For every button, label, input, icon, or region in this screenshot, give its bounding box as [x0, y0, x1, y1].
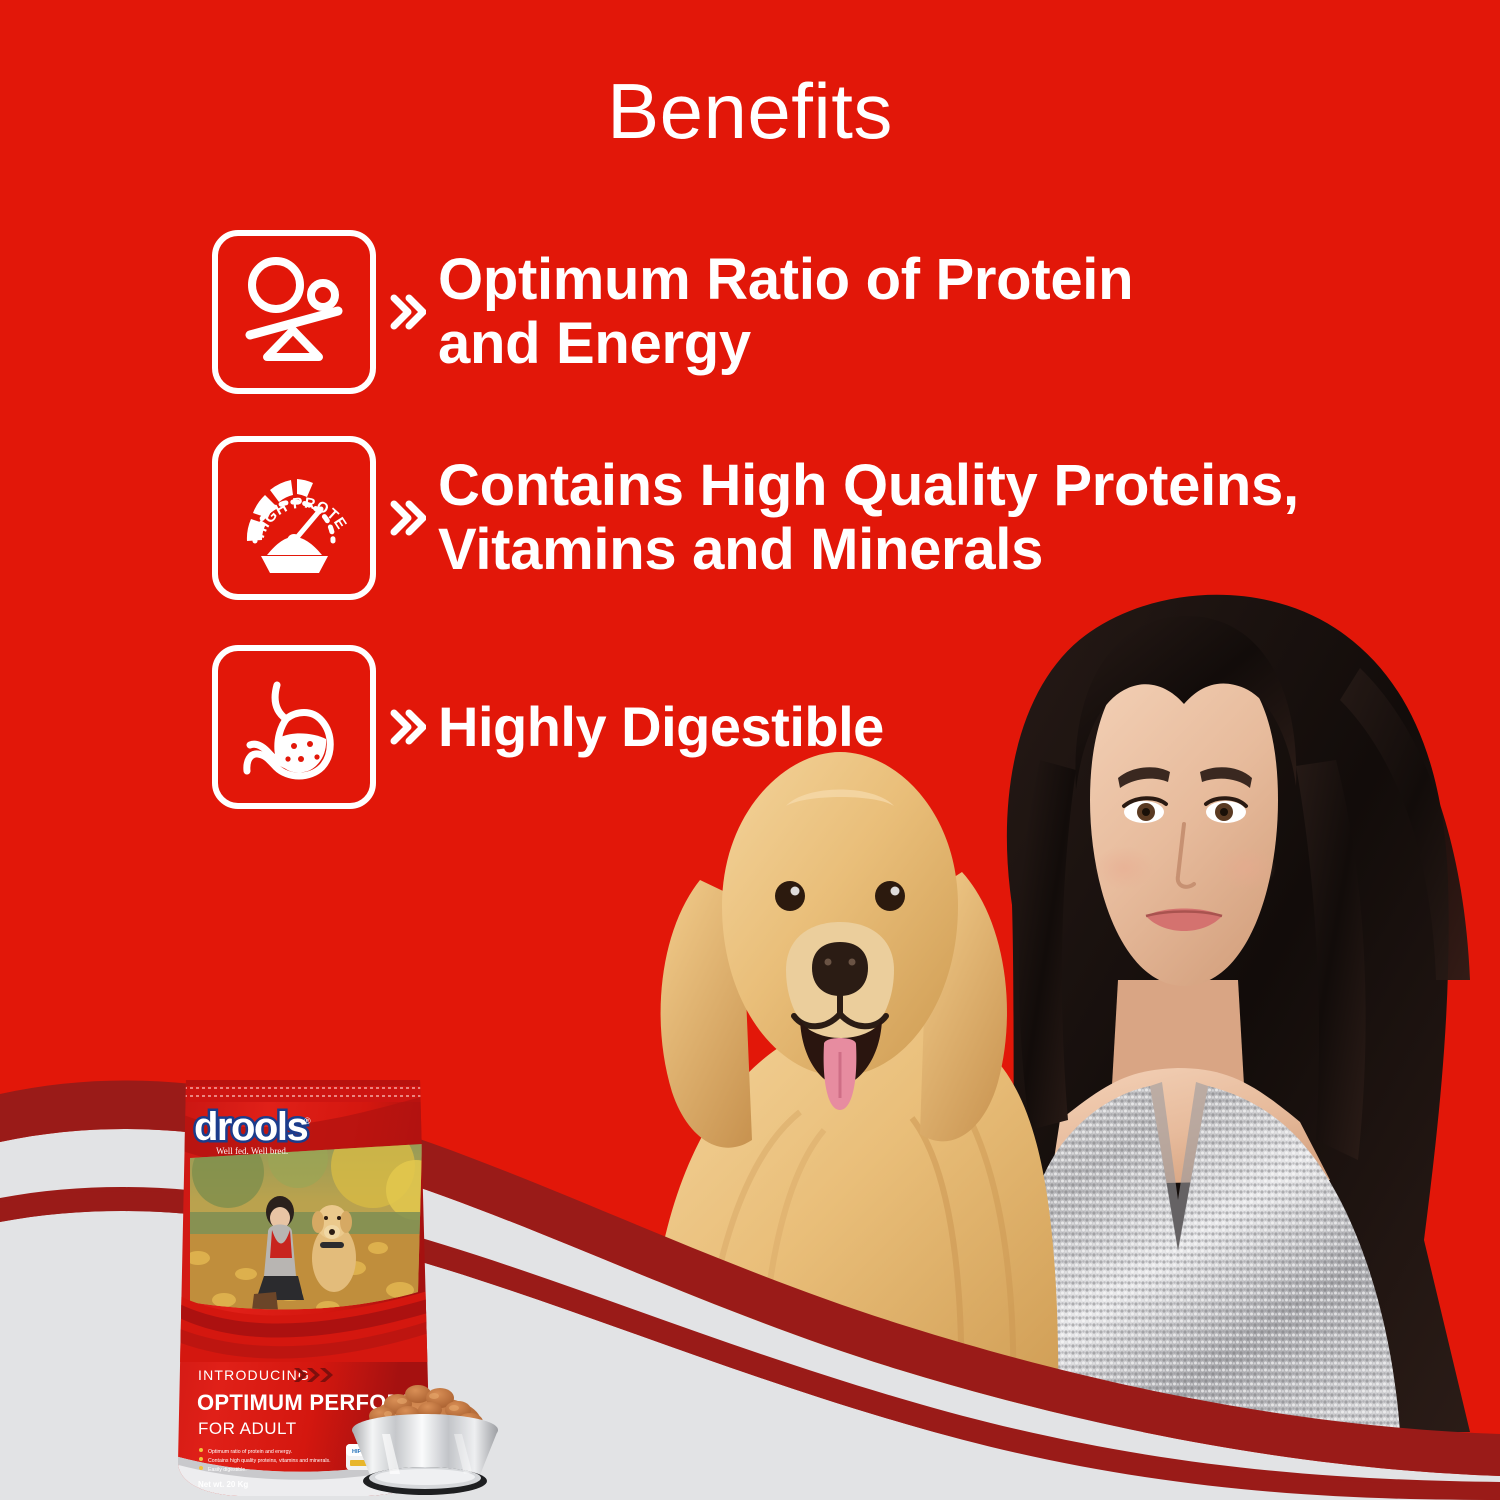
- bag-bullet-2: Easily digestible.: [208, 1467, 247, 1473]
- benefit-row-3: Highly Digestible: [212, 645, 884, 809]
- bag-net-weight: Net wt. 20 Kg: [198, 1480, 248, 1489]
- benefit-text-2: Contains High Quality Proteins, Vitamins…: [438, 454, 1299, 582]
- bag-brand-text: drools: [194, 1105, 307, 1149]
- high-protein-gauge-icon: HIGH PROTEIN: [212, 436, 376, 600]
- balance-scale-icon: [212, 230, 376, 394]
- bag-tagline: Well fed. Well bred.: [216, 1146, 288, 1156]
- benefit-row-2: HIGH PROTEIN Contains High Quality Prote…: [212, 436, 1299, 600]
- stomach-digestion-icon: [212, 645, 376, 809]
- double-chevron-right-icon: [376, 498, 438, 538]
- benefits-promo-banner: Benefits: [0, 0, 1500, 1500]
- bag-brand-trademark: ®: [304, 1116, 311, 1126]
- benefit-row-1: Optimum Ratio of Protein and Energy: [212, 230, 1133, 394]
- page-title: Benefits: [0, 72, 1500, 150]
- bag-introducing-label: INTRODUCING: [198, 1367, 310, 1383]
- bag-life-stage: FOR ADULT: [198, 1419, 297, 1438]
- double-chevron-right-icon: [376, 707, 438, 747]
- bag-bullet-0: Optimum ratio of protein and energy.: [208, 1449, 292, 1455]
- benefit-text-3: Highly Digestible: [438, 696, 884, 758]
- stainless-steel-dog-bowl: [330, 1368, 520, 1500]
- bag-bullet-1: Contains high quality proteins, vitamins…: [208, 1458, 331, 1464]
- double-chevron-right-icon: [376, 292, 438, 332]
- bag-brand-logo: drools ®: [194, 1105, 311, 1149]
- benefit-text-1: Optimum Ratio of Protein and Energy: [438, 248, 1133, 376]
